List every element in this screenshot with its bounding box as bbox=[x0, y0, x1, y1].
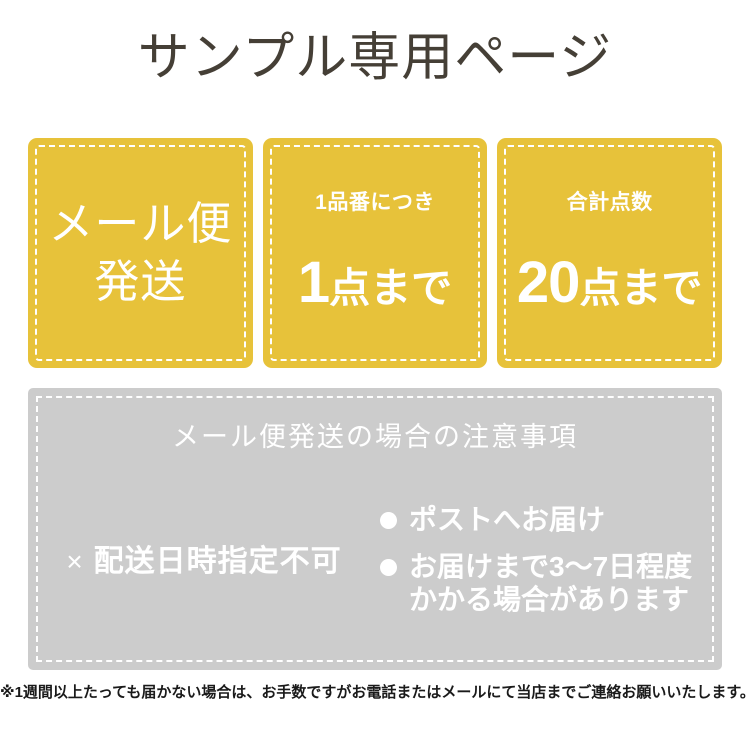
page-title: サンプル専用ページ bbox=[0, 26, 750, 90]
feature-box-shipping-method-content: メール便 発送 bbox=[28, 195, 253, 311]
notice-body: ×配送日時指定不可 ポストへお届け お届けまで3〜7日程度 かかる場合があります bbox=[28, 498, 722, 648]
notice-restriction-label: 配送日時指定不可 bbox=[94, 545, 342, 578]
total-item-limit-number: 20 bbox=[517, 254, 580, 312]
feature-box-shipping-method: メール便 発送 bbox=[28, 138, 253, 368]
feature-box-group: メール便 発送 1品番につき 1 点まで 合計点数 20 点まで bbox=[28, 138, 722, 368]
feature-box-per-item-limit: 1品番につき 1 点まで bbox=[263, 138, 488, 368]
feature-box-total-item-limit: 合計点数 20 点まで bbox=[497, 138, 722, 368]
footnote: ※1週間以上たっても届かない場合は、お手数ですがお電話またはメールにて当店までご… bbox=[0, 682, 750, 704]
shipping-method-line-2: 発送 bbox=[28, 253, 253, 311]
feature-box-total-item-limit-content: 合計点数 20 点まで bbox=[497, 190, 722, 317]
notice-bullet-2-line-1: お届けまで3〜7日程度 bbox=[409, 551, 692, 582]
per-item-limit-number: 1 bbox=[298, 254, 329, 312]
notice-panel: メール便発送の場合の注意事項 ×配送日時指定不可 ポストへお届け お届けまで3〜… bbox=[28, 388, 722, 670]
total-item-limit-value: 20 点まで bbox=[497, 254, 722, 317]
list-item: ポストへお届け bbox=[380, 503, 722, 536]
notice-heading: メール便発送の場合の注意事項 bbox=[28, 420, 722, 454]
total-item-limit-unit: 点まで bbox=[579, 259, 702, 317]
sample-shipping-banner: サンプル専用ページ メール便 発送 1品番につき 1 点まで 合計点数 20 bbox=[0, 0, 750, 750]
bullet-dot-icon bbox=[380, 559, 397, 576]
notice-restriction: ×配送日時指定不可 bbox=[28, 544, 380, 580]
shipping-method-line-1: メール便 bbox=[28, 195, 253, 253]
feature-box-per-item-limit-content: 1品番につき 1 点まで bbox=[263, 190, 488, 317]
per-item-limit-caption: 1品番につき bbox=[263, 190, 488, 216]
list-item: お届けまで3〜7日程度 かかる場合があります bbox=[380, 550, 722, 616]
per-item-limit-value: 1 点まで bbox=[263, 254, 488, 317]
notice-bullet-2-text-block: お届けまで3〜7日程度 かかる場合があります bbox=[409, 550, 692, 616]
per-item-limit-unit: 点まで bbox=[329, 259, 452, 317]
notice-restriction-group: ×配送日時指定不可 bbox=[28, 498, 380, 580]
total-item-limit-caption: 合計点数 bbox=[497, 190, 722, 216]
notice-bullet-1-text: ポストへお届け bbox=[409, 503, 605, 536]
notice-bullet-2-line-2: かかる場合があります bbox=[409, 584, 689, 615]
notice-bullet-list: ポストへお届け お届けまで3〜7日程度 かかる場合があります bbox=[380, 498, 722, 630]
cross-mark-icon: × bbox=[66, 546, 83, 577]
bullet-dot-icon bbox=[380, 512, 397, 529]
